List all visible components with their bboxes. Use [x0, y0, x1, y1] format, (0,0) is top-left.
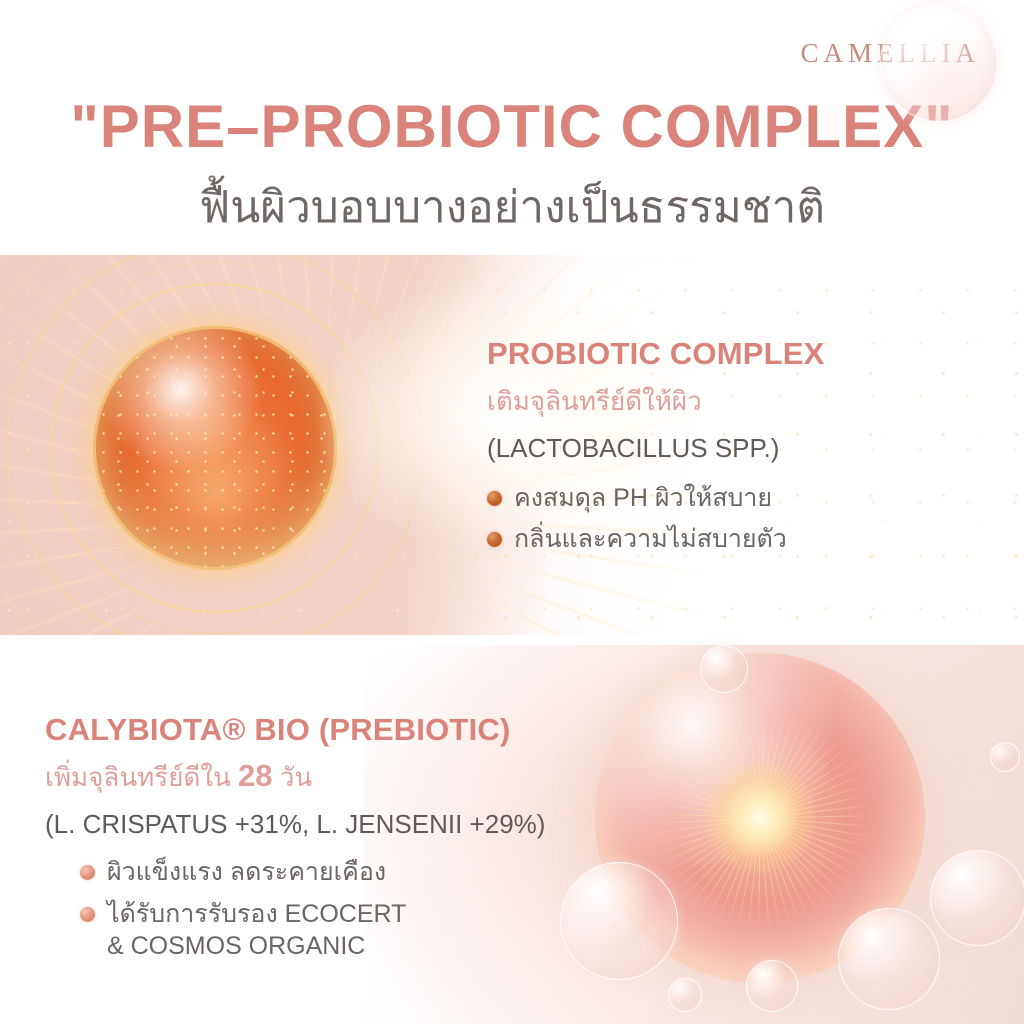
thai-tagline-prefix: เพิ่มจุลินทรีย์ดีใน	[45, 762, 238, 792]
list-item: ได้รับการรับรอง ECOCERT & COSMOS ORGANIC	[80, 898, 645, 963]
bubble-icon	[700, 645, 748, 693]
bubble-icon	[930, 850, 1024, 946]
bullet-dot-icon	[80, 907, 95, 922]
starburst-core	[704, 762, 816, 874]
probiotic-bullet-list: คงสมดุล PH ผิวให้สบาย กลิ่นและความไม่สบา…	[487, 482, 1007, 555]
section-thai-tagline-probiotic: เติมจุลินทรีย์ดีให้ผิว	[487, 381, 1007, 422]
section-latin-detail-probiotic: (LACTOBACILLUS SPP.)	[487, 433, 1007, 464]
bullet-label: ได้รับการรับรอง ECOCERT & COSMOS ORGANIC	[107, 898, 406, 963]
list-item: ผิวแข็งแรง ลดระคายเคือง	[80, 856, 645, 889]
bullet-dot-icon	[80, 865, 95, 880]
thai-tagline-days-number: 28	[238, 758, 272, 793]
calybiota-block: CALYBIOTA® BIO (PREBIOTIC) เพิ่มจุลินทรี…	[45, 712, 645, 972]
bullet-label: คงสมดุล PH ผิวให้สบาย	[514, 482, 772, 514]
probiotic-complex-block: PROBIOTIC COMPLEX เติมจุลินทรีย์ดีให้ผิว…	[487, 336, 1007, 564]
bubble-icon	[990, 742, 1020, 772]
section-title-calybiota: CALYBIOTA® BIO (PREBIOTIC)	[45, 712, 645, 748]
list-item: คงสมดุล PH ผิวให้สบาย	[487, 482, 1007, 514]
page-title: "PRE–PROBIOTIC COMPLEX"	[0, 92, 1024, 161]
page-subtitle-thai: ฟื้นผิวบอบบางอย่างเป็นธรรมชาติ	[0, 172, 1024, 242]
bubble-icon	[746, 960, 798, 1012]
bubble-icon	[838, 908, 940, 1010]
bubble-icon	[668, 978, 702, 1012]
list-item: กลิ่นและความไม่สบายตัว	[487, 523, 1007, 555]
bullet-dot-icon	[487, 491, 502, 506]
bullet-label: กลิ่นและความไม่สบายตัว	[514, 523, 787, 555]
section-latin-detail-calybiota: (L. CRISPATUS +31%, L. JENSENII +29%)	[45, 809, 645, 840]
orb-rim	[93, 326, 337, 570]
bullet-label: ผิวแข็งแรง ลดระคายเคือง	[107, 856, 386, 889]
bullet-dot-icon	[487, 532, 502, 547]
infographic-page: CAMELLIA "PRE–PROBIOTIC COMPLEX" ฟื้นผิว…	[0, 0, 1024, 1024]
calybiota-bullet-list: ผิวแข็งแรง ลดระคายเคือง ได้รับการรับรอง …	[45, 856, 645, 963]
section-thai-tagline-calybiota: เพิ่มจุลินทรีย์ดีใน 28 วัน	[45, 757, 645, 798]
bubble-icon	[880, 4, 998, 122]
section-title-probiotic: PROBIOTIC COMPLEX	[487, 336, 1007, 372]
thai-tagline-suffix: วัน	[273, 762, 313, 792]
